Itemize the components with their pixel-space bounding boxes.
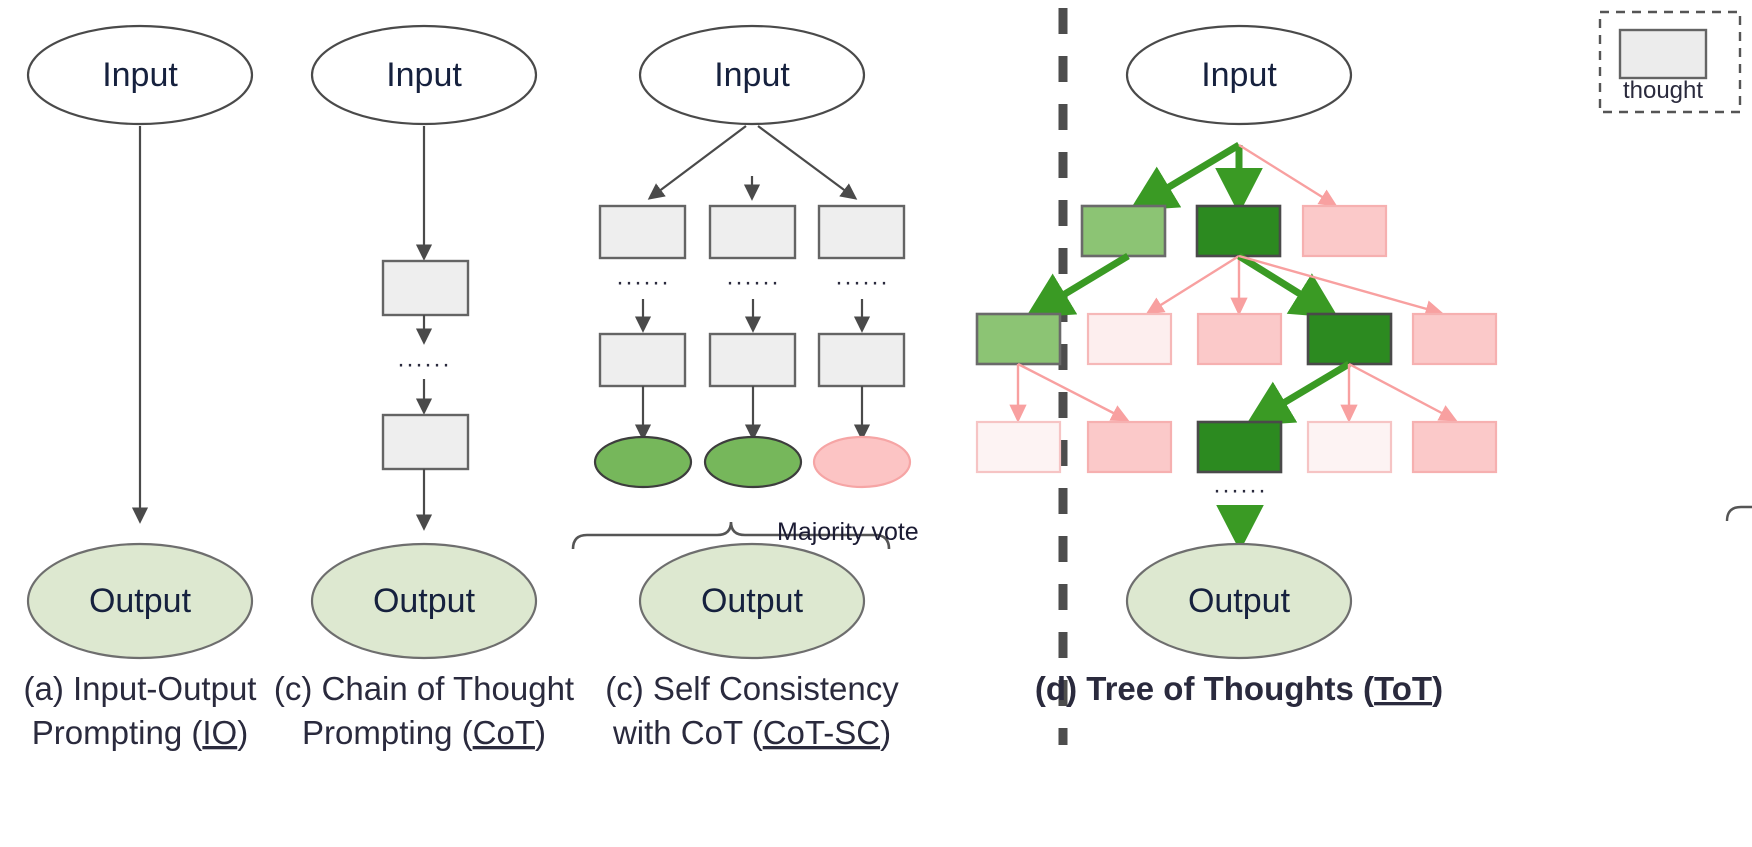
io-caption-prefix: Prompting ( [32, 714, 203, 751]
sc-result-ellipse-green-1 [595, 437, 691, 487]
tot-node-r3c2 [1088, 422, 1171, 472]
panel-tot: Input ······ [977, 26, 1496, 707]
panel-cot: Input ······ Output (c) Chain of Thought… [274, 26, 574, 751]
sc-ellipsis-1: ······ [616, 269, 670, 296]
cot-caption-underlined: CoT [473, 714, 535, 751]
cot-thought-box-1 [383, 261, 468, 315]
io-caption-suffix: ) [237, 714, 248, 751]
sc-result-ellipse-green-2 [705, 437, 801, 487]
figure-canvas: Input Output (a) Input-Output Prompting … [0, 0, 1752, 847]
sc-thought-box-1-2 [710, 206, 795, 258]
io-caption-line2: Prompting (IO) [32, 714, 248, 751]
tot-caption: (d) Tree of Thoughts (ToT) [1035, 670, 1443, 707]
tot-input-label: Input [1201, 56, 1277, 94]
sc-thought-box-1-3 [819, 206, 904, 258]
io-caption-line1: (a) Input-Output [24, 670, 257, 707]
tot-arrow-r2c1-to-r3c2 [1018, 364, 1127, 420]
cot-input-label: Input [386, 56, 462, 94]
sc-thought-box-2-1 [600, 334, 685, 386]
tot-node-r3c5 [1413, 422, 1496, 472]
tot-ellipsis: ······ [1213, 477, 1267, 504]
tot-arrow-r1c1-to-r2c1 [1035, 256, 1128, 312]
io-caption-underlined: IO [202, 714, 237, 751]
tot-node-r2c4 [1308, 314, 1391, 364]
cot-caption-line1: (c) Chain of Thought [274, 670, 574, 707]
tot-node-r2c2 [1088, 314, 1171, 364]
panel-io: Input Output (a) Input-Output Prompting … [24, 26, 257, 751]
sc-ellipsis-3: ······ [835, 269, 889, 296]
sc-ellipsis-2: ······ [726, 269, 780, 296]
sc-fan-arrow-left [650, 126, 746, 198]
tot-arrow-r1c2-to-r2c5 [1239, 256, 1441, 313]
tot-node-r3c1 [977, 422, 1060, 472]
sc-caption-prefix: with CoT ( [612, 714, 763, 751]
cot-ellipsis: ······ [397, 351, 451, 378]
tot-arrow-r2c4-to-r3c5 [1349, 364, 1455, 420]
sc-caption-line2: with CoT (CoT-SC) [612, 714, 891, 751]
sc-majority-vote-label: Majority vote [777, 518, 919, 546]
tot-output-label: Output [1188, 582, 1291, 620]
sc-input-label: Input [714, 56, 790, 94]
legend-thought-label: thought [1623, 77, 1703, 104]
cot-caption-suffix: ) [535, 714, 546, 751]
tot-caption-prefix: (d) Tree of Thoughts ( [1035, 670, 1374, 707]
sc-output-label: Output [701, 582, 804, 620]
tot-node-r2c3 [1198, 314, 1281, 364]
tot-caption-underlined: ToT [1374, 670, 1432, 707]
tot-node-r3c4 [1308, 422, 1391, 472]
sc-result-ellipse-pink-3 [814, 437, 910, 487]
io-input-label: Input [102, 56, 178, 94]
tot-arrow-root-to-r1c1 [1139, 145, 1239, 205]
cot-caption-line2: Prompting (CoT) [302, 714, 546, 751]
sc-majority-brace [1727, 493, 1752, 521]
sc-thought-box-1-1 [600, 206, 685, 258]
tot-caption-suffix: ) [1432, 670, 1443, 707]
io-output-label: Output [89, 582, 192, 620]
tot-node-r3c3 [1198, 422, 1281, 472]
legend-thought: thought [1600, 12, 1740, 112]
tot-arrow-root-to-r1c3 [1239, 145, 1335, 205]
tot-arrow-r1c2-to-r2c2 [1148, 256, 1239, 313]
tot-node-r1c3 [1303, 206, 1386, 256]
sc-thought-box-2-2 [710, 334, 795, 386]
sc-caption-line1: (c) Self Consistency [605, 670, 899, 707]
tot-node-r2c5 [1413, 314, 1496, 364]
cot-thought-box-2 [383, 415, 468, 469]
tot-arrow-r1c2-to-r2c4 [1239, 256, 1329, 312]
sc-thought-box-2-3 [819, 334, 904, 386]
prompting-methods-diagram: Input Output (a) Input-Output Prompting … [0, 0, 1752, 847]
tot-node-r2c1 [977, 314, 1060, 364]
legend-thought-swatch [1620, 30, 1706, 78]
tot-node-r1c2 [1197, 206, 1280, 256]
tot-arrow-r2c4-to-r3c3 [1255, 364, 1349, 420]
cot-caption-prefix: Prompting ( [302, 714, 473, 751]
cot-output-label: Output [373, 582, 476, 620]
tot-node-r1c1 [1082, 206, 1165, 256]
sc-fan-arrow-right [758, 126, 855, 198]
sc-caption-suffix: ) [880, 714, 891, 751]
sc-caption-underlined: CoT-SC [763, 714, 880, 751]
